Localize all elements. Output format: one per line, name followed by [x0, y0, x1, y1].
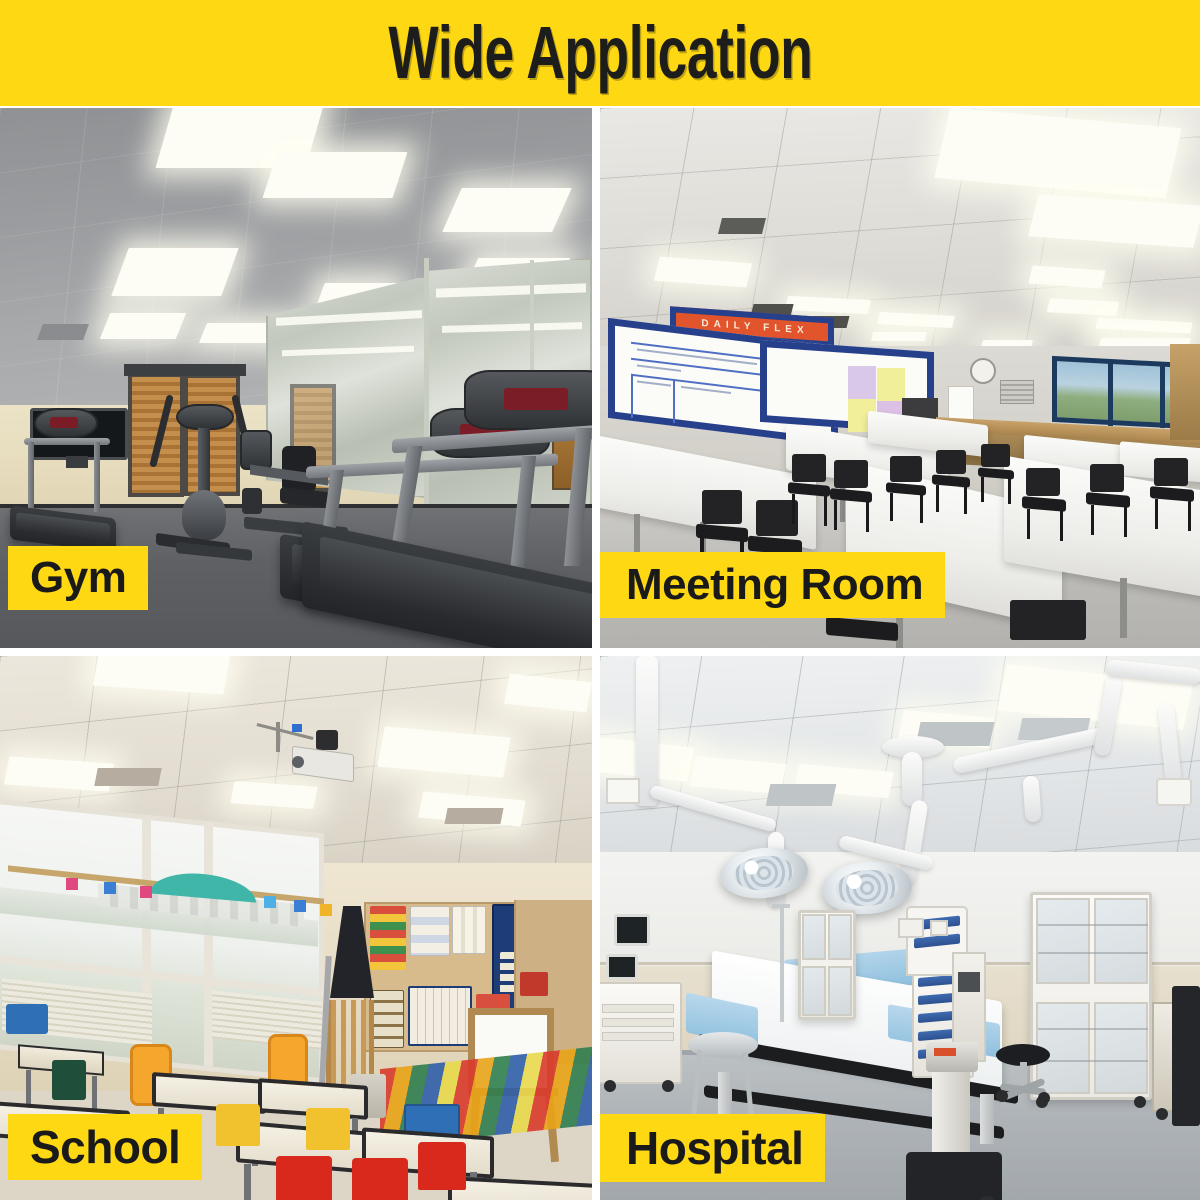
anesthesia-monitor: [606, 954, 638, 980]
folding-chair: [930, 450, 972, 514]
folding-chair: [786, 454, 832, 524]
treadmill-display: [50, 417, 78, 428]
caption-tag-gym: Gym: [8, 546, 148, 610]
grid-gutter-horizontal: [0, 648, 1200, 656]
cabinet-glass-door: [828, 966, 852, 1016]
elliptical-handle: [149, 394, 174, 467]
chair-back: [1154, 458, 1188, 486]
cabinet-shelf: [1038, 1060, 1148, 1062]
caption-tag-hospital: Hospital: [600, 1114, 825, 1182]
folding-chair: [976, 444, 1016, 504]
projector-lens: [292, 756, 304, 768]
sticky-note: [877, 368, 905, 401]
chart-poster: [370, 906, 406, 970]
chair-leg: [936, 485, 939, 512]
chair-leg: [866, 502, 869, 532]
chair-leg: [1188, 501, 1191, 531]
iv-hook: [772, 904, 790, 908]
equipment-head: [926, 1042, 978, 1072]
folding-chair: [828, 460, 874, 530]
treadmill-left: [10, 408, 110, 558]
projector-head: [316, 730, 338, 750]
chart-poster: [410, 906, 450, 956]
chair-leg: [824, 496, 827, 526]
wall-pocket: [520, 972, 548, 996]
cabinet-glass-door: [828, 914, 852, 960]
bookshelf: [1170, 344, 1200, 440]
treadmill-upright: [94, 442, 100, 512]
caption-tag-meeting-room: Meeting Room: [600, 552, 945, 618]
folding-chair: [884, 456, 928, 522]
chair-back: [890, 456, 922, 482]
caster-wheel: [996, 1090, 1008, 1102]
caster-wheel: [604, 1080, 616, 1092]
whiteboard-rule: [673, 379, 675, 423]
gallery-cell-school[interactable]: School: [0, 656, 592, 1200]
equipment-indicator: [934, 1048, 956, 1056]
elliptical-flywheel: [182, 490, 226, 540]
pennant: [66, 878, 78, 890]
supply-shelf: [370, 990, 404, 1048]
led-panel: [442, 188, 572, 232]
gallery-cell-meeting-room[interactable]: DAILY FLEX: [600, 108, 1200, 648]
pennant: [140, 886, 152, 898]
school-photo: School: [0, 656, 592, 1200]
table-leg: [1120, 578, 1127, 638]
hospital-photo: Hospital: [600, 656, 1200, 1200]
sticky-note: [848, 366, 876, 399]
cabinet-shelf: [1038, 924, 1148, 926]
elliptical-mast: [198, 428, 210, 498]
desk-leg: [244, 1164, 251, 1200]
meeting-room-photo: DAILY FLEX: [600, 108, 1200, 648]
window-mullion: [1160, 364, 1165, 428]
chair-leg: [1060, 511, 1063, 541]
student-chair-red: [418, 1142, 466, 1190]
treadmill-upright: [564, 428, 592, 566]
cabinet-glass-door: [1094, 898, 1148, 984]
bike-console: [240, 430, 272, 470]
desk-chair: [52, 1060, 86, 1100]
boom-cradle: [1156, 778, 1192, 806]
wall-gas-outlet: [898, 918, 924, 938]
chair-back: [1010, 600, 1086, 640]
machine-drawer: [602, 1004, 674, 1013]
whiteboard-writing: [637, 364, 681, 371]
folding-chair: [1148, 458, 1196, 530]
folding-chair: [1084, 464, 1132, 536]
flip-chart: [948, 386, 974, 422]
student-chair-red: [276, 1156, 332, 1200]
cabinet-shelf: [1038, 1028, 1148, 1030]
student-desk-foreground: [448, 1176, 592, 1200]
folding-chair: [1020, 468, 1068, 540]
header-banner: Wide Application: [0, 0, 1200, 106]
ceiling-vent: [444, 808, 503, 824]
cabinet-glass-door: [802, 914, 826, 960]
caster-wheel: [1156, 1108, 1168, 1120]
iv-pole: [780, 906, 784, 1022]
ceiling-vent: [94, 768, 161, 786]
window-mullion: [1108, 362, 1113, 426]
ceiling-vent: [37, 324, 89, 340]
surgeon-stool: [996, 1044, 1050, 1106]
table-column: [980, 1094, 994, 1144]
student-chair-red: [352, 1158, 408, 1200]
machine-drawer: [602, 1032, 674, 1041]
door-header-trim: [124, 364, 246, 376]
chart-poster: [452, 906, 486, 954]
equipment-boom-arm: [1022, 775, 1041, 822]
chair-leg: [1124, 507, 1127, 537]
chair-back: [792, 454, 826, 482]
grid-gutter-vertical: [592, 108, 600, 648]
chair-leg: [1027, 509, 1030, 539]
treadmill-upright: [28, 442, 34, 518]
page-title: Wide Application: [388, 16, 812, 90]
gym-photo: Gym: [0, 108, 592, 648]
chair-back: [834, 460, 868, 488]
elliptical-trainer: [152, 394, 252, 554]
ceiling-vent: [766, 784, 837, 806]
gallery-cell-gym[interactable]: Gym: [0, 108, 592, 648]
projector-indicator: [292, 724, 302, 732]
chair-seat: [826, 617, 898, 641]
gallery-cell-hospital[interactable]: Hospital: [600, 656, 1200, 1200]
chair-leg: [834, 500, 837, 530]
right-equipment-dark: [1172, 986, 1200, 1126]
caption-label: Hospital: [626, 1121, 803, 1175]
chair-back: [1090, 464, 1124, 492]
caption-tag-school: School: [8, 1114, 202, 1180]
chair-leg: [964, 487, 967, 514]
caption-label: Meeting Room: [626, 560, 923, 610]
whiteboard-writing: [637, 380, 671, 386]
chair-back: [981, 444, 1010, 467]
cabinet-glass-door: [1036, 898, 1090, 984]
pennant: [320, 904, 332, 916]
pennant: [294, 900, 306, 912]
grid-gutter-vertical: [592, 656, 600, 1200]
led-panel: [100, 313, 187, 339]
wall-switch-plate: [930, 920, 948, 936]
chair-leg: [1091, 505, 1094, 535]
machine-drawer: [602, 1018, 674, 1027]
pennant: [104, 882, 116, 894]
folding-chair-foreground: [998, 600, 1094, 648]
caption-label: Gym: [30, 553, 126, 603]
chair-leg: [981, 477, 984, 502]
chair-back: [1026, 468, 1060, 496]
cabinet-shelf: [1038, 952, 1148, 954]
surgical-light-post: [902, 752, 922, 806]
equipment-base: [906, 1152, 1002, 1200]
student-chair-yellow: [216, 1104, 260, 1146]
cabinet-glass-door: [802, 966, 826, 1016]
chair-leg: [920, 495, 923, 523]
led-panel: [111, 248, 238, 296]
elliptical-console: [176, 404, 234, 430]
vital-signs-monitor: [614, 914, 650, 946]
caster-wheel: [662, 1080, 674, 1092]
student-chair-yellow: [306, 1108, 350, 1150]
chair-back: [702, 490, 742, 524]
caption-label: School: [30, 1120, 180, 1174]
whiteboard-rule: [631, 374, 633, 418]
wall-vent: [1000, 380, 1034, 404]
storage-bin: [6, 1004, 48, 1034]
cabinet-glass-door: [1094, 1002, 1148, 1094]
ceiling-vent: [718, 218, 766, 234]
wide-application-banner-graphic: Wide Application: [0, 0, 1200, 1200]
led-panel: [263, 152, 408, 198]
bike-pedal-crank: [242, 488, 262, 514]
word-wall-grid: [408, 986, 472, 1046]
cart-monitor-face: [958, 972, 980, 992]
caster-wheel: [1134, 1096, 1146, 1108]
chair-leg: [890, 493, 893, 521]
chair-leg: [1008, 479, 1011, 504]
chair-leg: [1155, 499, 1158, 529]
chair-leg: [792, 494, 795, 524]
projector-mount-arm: [276, 722, 280, 752]
wall-clock: [970, 358, 996, 384]
pennant: [264, 896, 276, 908]
led-panel: [871, 332, 927, 341]
chair-back: [936, 450, 966, 474]
treadmill-display: [504, 388, 568, 410]
caster-wheel: [1038, 1092, 1050, 1104]
treadmill-foreground: [392, 370, 592, 648]
equipment-panel: [606, 778, 640, 804]
application-gallery-grid: Gym: [0, 108, 1200, 1200]
